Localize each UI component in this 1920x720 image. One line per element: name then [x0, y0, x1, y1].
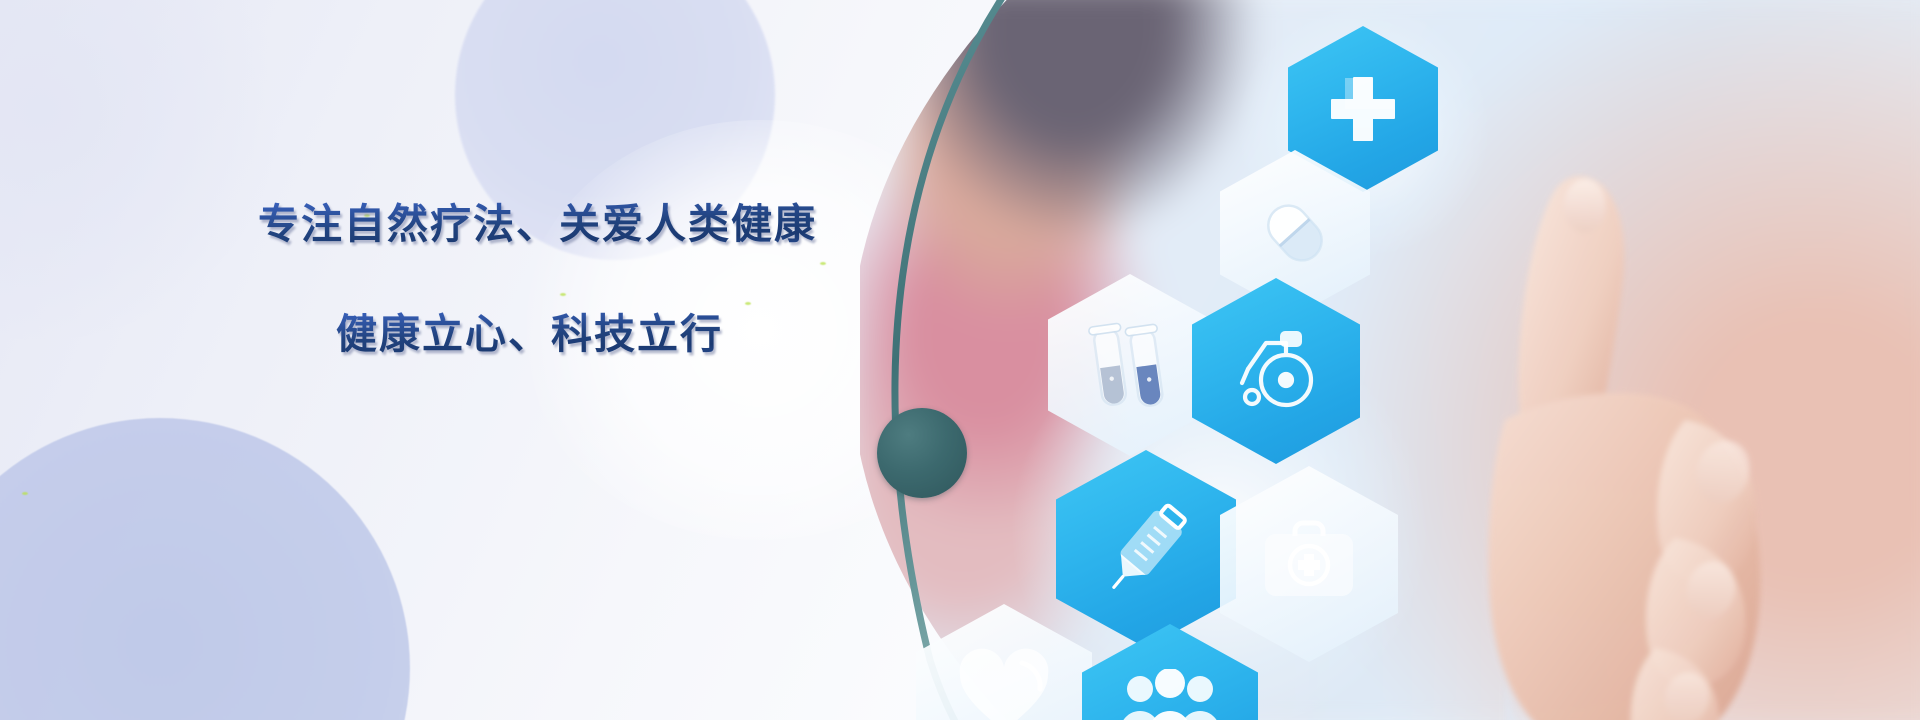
hero-banner: 专注自然疗法、关爱人类健康 健康立心、科技立行 — [0, 0, 1920, 720]
pill-capsule-icon — [1253, 191, 1337, 275]
headline-secondary: 健康立心、科技立行 — [336, 300, 723, 360]
hero-photo-panel — [860, 0, 1920, 720]
hex-heart[interactable] — [916, 604, 1092, 720]
headline-primary: 专注自然疗法、关爱人类健康 — [258, 190, 817, 250]
heart-icon — [952, 647, 1056, 720]
hex-test-tubes[interactable] — [1048, 274, 1212, 456]
hex-first-aid-kit[interactable] — [1220, 466, 1398, 662]
hexagon-icon-cluster — [860, 0, 1920, 720]
syringe-icon — [1094, 497, 1198, 601]
hex-people-group[interactable] — [1082, 624, 1258, 720]
wheelchair-icon — [1230, 325, 1322, 417]
people-group-icon — [1114, 669, 1226, 720]
test-tubes-icon — [1086, 318, 1174, 412]
hex-syringe[interactable] — [1056, 450, 1236, 648]
hex-wheelchair[interactable] — [1192, 278, 1360, 464]
headline-block: 专注自然疗法、关爱人类健康 健康立心、科技立行 — [0, 0, 880, 720]
first-aid-kit-icon — [1257, 516, 1361, 612]
medical-cross-icon — [1326, 72, 1400, 146]
